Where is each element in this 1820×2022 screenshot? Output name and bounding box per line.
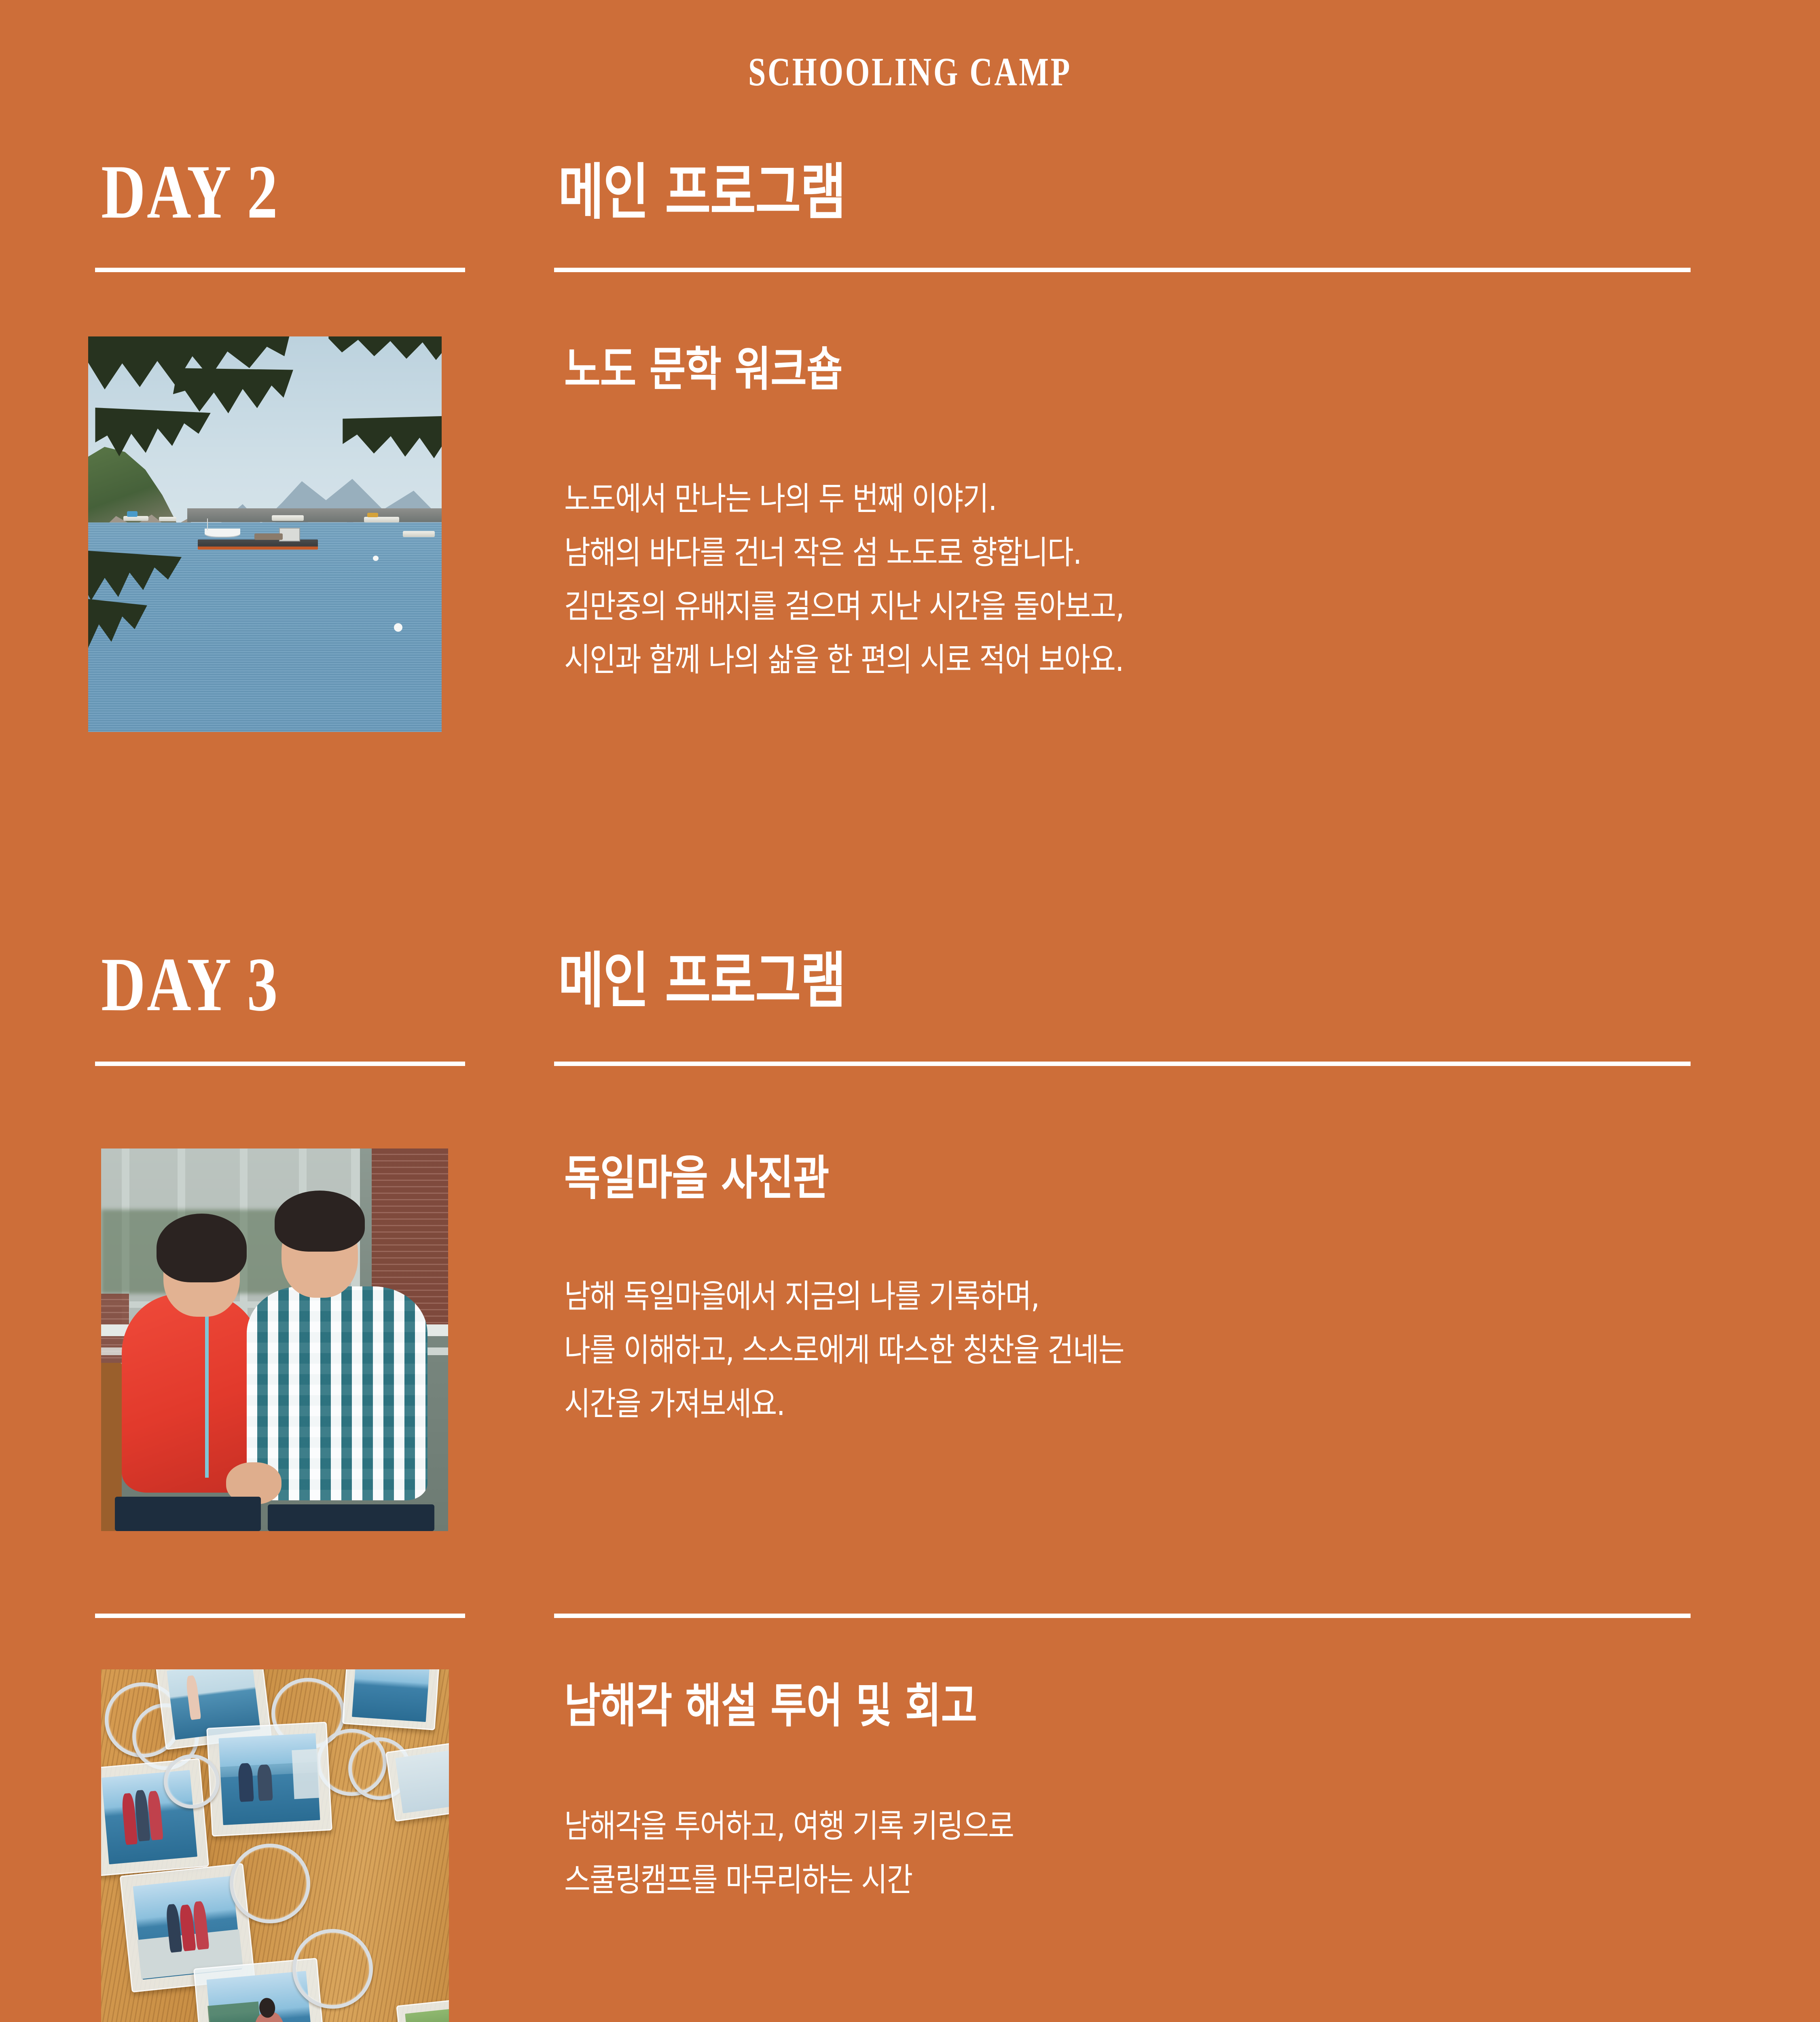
page-title: SCHOOLING CAMP (200, 49, 1620, 95)
divider-day3-mid-right (554, 1614, 1691, 1618)
section-label-day2: 메인 프로그램 (558, 162, 845, 222)
photo-noddo-seascape (88, 336, 442, 732)
divider-day3-mid-left (95, 1614, 465, 1618)
program-body-day3-2: 남해각을 투어하고, 여행 기록 키링으로 스쿨링캠프를 마무리하는 시간 (564, 1800, 1632, 1907)
photo-german-village-couple (101, 1148, 448, 1531)
divider-day3-left (95, 1062, 465, 1066)
divider-day2-right (554, 268, 1691, 272)
program-title-day3-2: 남해각 해설 투어 및 회고 (564, 1682, 977, 1729)
program-body-day2-1: 노도에서 만나는 나의 두 번째 이야기. 남해의 바다를 건너 작은 섬 노도… (564, 472, 1632, 687)
program-title-day2-1: 노도 문학 워크숍 (564, 346, 842, 393)
divider-day3-right (554, 1062, 1691, 1066)
divider-day2-left (95, 268, 465, 272)
day-label-day3: DAY 3 (101, 946, 279, 1023)
photo-keychains (101, 1669, 449, 2022)
day-label-day2: DAY 2 (101, 154, 279, 231)
program-body-day3-1: 남해 독일마을에서 지금의 나를 기록하며, 나를 이해하고, 스스로에게 따스… (564, 1270, 1632, 1431)
program-title-day3-1: 독일마을 사진관 (564, 1155, 829, 1201)
poster-page: SCHOOLING CAMP DAY 2 메인 프로그램 (0, 0, 1820, 2022)
section-label-day3: 메인 프로그램 (558, 950, 845, 1011)
